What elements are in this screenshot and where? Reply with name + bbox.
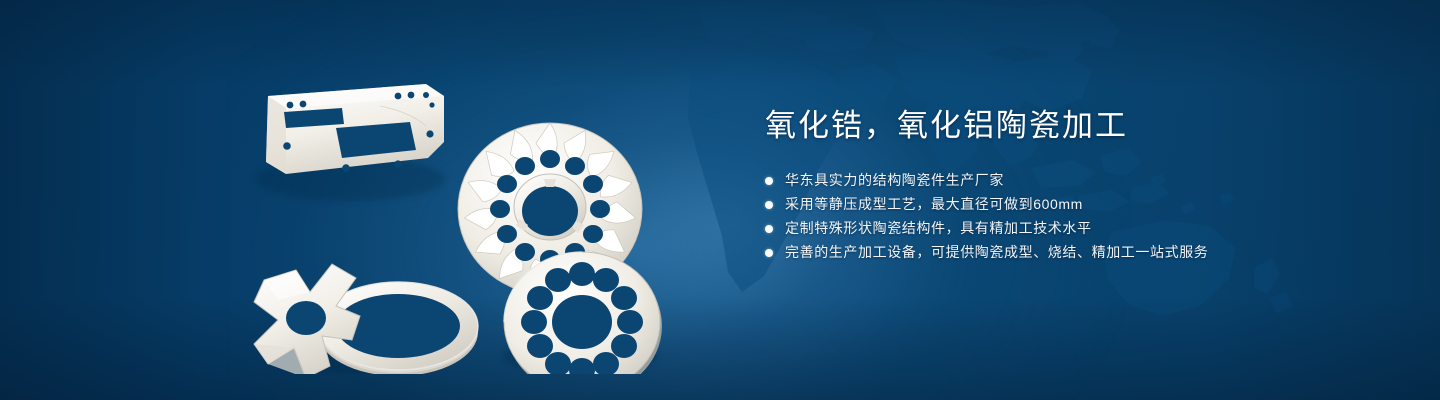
banner-copy: 氧化锆，氧化铝陶瓷加工 华东具实力的结构陶瓷件生产厂家 采用等静压成型工艺，最大… [765,106,1385,268]
list-item-label: 完善的生产加工设备，可提供陶瓷成型、烧结、精加工一站式服务 [785,244,1208,261]
ceramic-processing-hero-banner: 氧化锆，氧化铝陶瓷加工 华东具实力的结构陶瓷件生产厂家 采用等静压成型工艺，最大… [0,0,1440,400]
list-item-label: 定制特殊形状陶瓷结构件，具有精加工技术水平 [785,220,1092,237]
bullet-dot-icon [765,249,773,257]
page-title: 氧化锆，氧化铝陶瓷加工 [765,106,1385,146]
ceramic-cross-vane-and-rings [254,264,478,374]
bullet-dot-icon [765,201,773,209]
list-item: 定制特殊形状陶瓷结构件，具有精加工技术水平 [765,220,1385,237]
ceramic-products-image [230,34,730,374]
feature-list: 华东具实力的结构陶瓷件生产厂家 采用等静压成型工艺，最大直径可做到600mm 定… [765,172,1385,261]
list-item: 采用等静压成型工艺，最大直径可做到600mm [765,196,1385,213]
ceramic-machined-plate [266,84,444,174]
list-item: 完善的生产加工设备，可提供陶瓷成型、烧结、精加工一站式服务 [765,244,1385,261]
list-item-label: 采用等静压成型工艺，最大直径可做到600mm [785,196,1083,213]
list-item: 华东具实力的结构陶瓷件生产厂家 [765,172,1385,189]
list-item-label: 华东具实力的结构陶瓷件生产厂家 [785,172,1004,189]
bullet-dot-icon [765,177,773,185]
bullet-dot-icon [765,225,773,233]
